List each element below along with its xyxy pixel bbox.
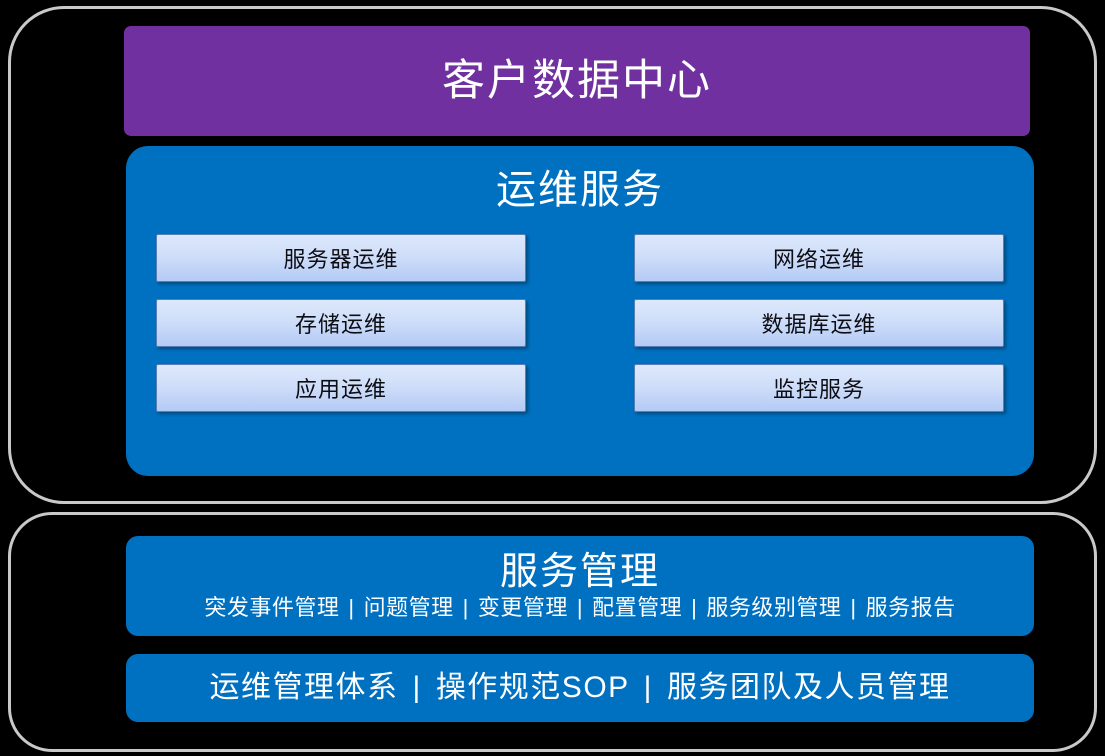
ops-item-label: 网络运维: [773, 242, 865, 274]
separator: |: [691, 597, 697, 619]
separator: |: [577, 597, 583, 619]
ops-item-label: 存储运维: [295, 307, 387, 339]
datacenter-title: 客户数据中心: [442, 60, 712, 103]
foundation-items: 运维管理体系 | 操作规范SOP | 服务团队及人员管理: [210, 673, 951, 703]
ops-item-label: 监控服务: [773, 372, 865, 404]
service-management-item[interactable]: 变更管理: [478, 597, 568, 619]
ops-services-grid: 服务器运维 存储运维 应用运维 网络运维 数据库运维 监控服务: [156, 234, 1004, 412]
ops-item-label: 应用运维: [295, 372, 387, 404]
foundation-item[interactable]: 服务团队及人员管理: [667, 673, 951, 703]
ops-item-label: 数据库运维: [761, 307, 876, 339]
service-management-item[interactable]: 问题管理: [364, 597, 454, 619]
ops-services-title: 运维服务: [126, 170, 1034, 210]
ops-item[interactable]: 网络运维: [634, 234, 1004, 282]
diagram-canvas: 客户数据中心 运维服务 服务器运维 存储运维 应用运维 网络运维: [0, 0, 1105, 756]
datacenter-header: 客户数据中心: [124, 26, 1030, 136]
ops-item[interactable]: 服务器运维: [156, 234, 526, 282]
ops-item[interactable]: 应用运维: [156, 364, 526, 412]
separator: |: [348, 597, 354, 619]
foundation-item[interactable]: 操作规范SOP: [436, 673, 630, 703]
separator: |: [413, 673, 422, 703]
service-management-bar: 服务管理 突发事件管理 | 问题管理 | 变更管理 | 配置管理 | 服务级别管…: [126, 536, 1034, 636]
separator: |: [850, 597, 856, 619]
separator: |: [644, 673, 653, 703]
service-management-items: 突发事件管理 | 问题管理 | 变更管理 | 配置管理 | 服务级别管理 | 服…: [204, 597, 955, 619]
foundation-item[interactable]: 运维管理体系: [210, 673, 399, 703]
service-management-item[interactable]: 配置管理: [592, 597, 682, 619]
ops-item[interactable]: 存储运维: [156, 299, 526, 347]
service-management-title: 服务管理: [500, 553, 660, 593]
ops-item[interactable]: 数据库运维: [634, 299, 1004, 347]
service-management-item[interactable]: 服务级别管理: [706, 597, 841, 619]
ops-item-label: 服务器运维: [283, 242, 398, 274]
separator: |: [463, 597, 469, 619]
service-management-item[interactable]: 突发事件管理: [204, 597, 339, 619]
ops-column-right: 网络运维 数据库运维 监控服务: [634, 234, 1004, 412]
ops-services-panel: 运维服务 服务器运维 存储运维 应用运维 网络运维 数据库运维: [126, 146, 1034, 476]
foundation-bar: 运维管理体系 | 操作规范SOP | 服务团队及人员管理: [126, 654, 1034, 722]
service-management-item[interactable]: 服务报告: [866, 597, 956, 619]
ops-item[interactable]: 监控服务: [634, 364, 1004, 412]
ops-column-left: 服务器运维 存储运维 应用运维: [156, 234, 526, 412]
